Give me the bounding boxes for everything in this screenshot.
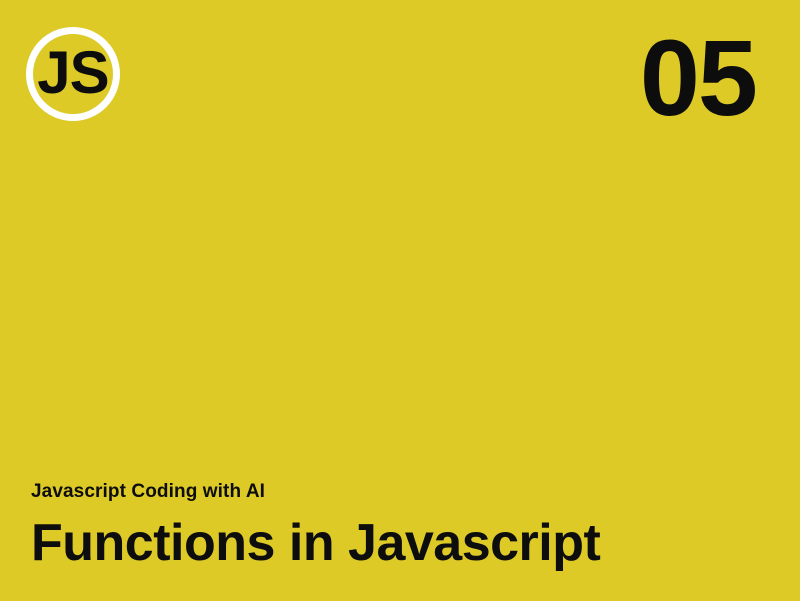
slide-text-block: Javascript Coding with AI Functions in J… bbox=[31, 482, 760, 571]
slide-eyebrow: Javascript Coding with AI bbox=[31, 482, 760, 503]
js-badge-label: JS bbox=[37, 43, 108, 103]
slide-title: Functions in Javascript bbox=[31, 516, 760, 571]
slide-number: 05 bbox=[640, 24, 756, 132]
js-circle-logo-icon: JS bbox=[26, 27, 120, 121]
presentation-slide: JS 05 Javascript Coding with AI Function… bbox=[0, 0, 800, 601]
